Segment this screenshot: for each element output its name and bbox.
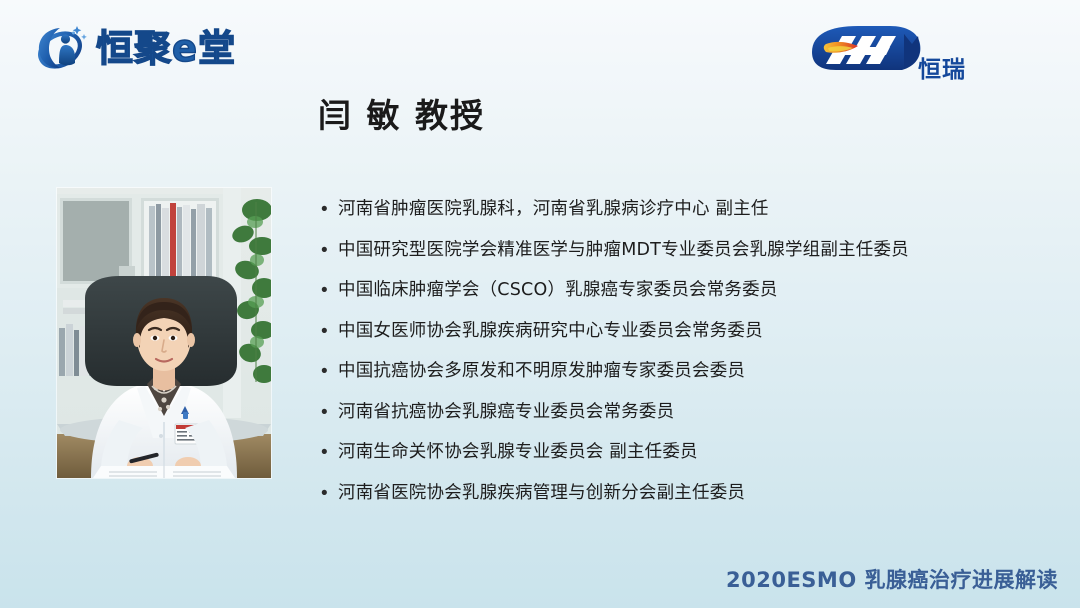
brand-logo-hengju: 恒聚e堂: [30, 14, 236, 82]
list-item: • 中国抗癌协会多原发和不明原发肿瘤专家委员会委员: [316, 358, 1036, 386]
list-item-label: 中国研究型医院学会精准医学与肿瘤MDT专业委员会乳腺学组副主任委员: [338, 237, 909, 264]
list-item: • 河南省医院协会乳腺疾病管理与创新分会副主任委员: [316, 480, 1036, 508]
list-item-label: 河南省抗癌协会乳腺癌专业委员会常务委员: [338, 399, 674, 426]
list-item-label: 中国临床肿瘤学会（CSCO）乳腺癌专家委员会常务委员: [338, 277, 778, 304]
list-item-label: 河南省医院协会乳腺疾病管理与创新分会副主任委员: [338, 480, 745, 507]
list-item: • 河南省抗癌协会乳腺癌专业委员会常务委员: [316, 399, 1036, 427]
bullet-marker-icon: •: [316, 277, 338, 304]
slide-header: 恒聚e堂: [0, 0, 1080, 96]
list-item: • 中国女医师协会乳腺疾病研究中心专业委员会常务委员: [316, 318, 1036, 346]
brand-logo-hengju-label: 恒聚e堂: [96, 30, 236, 67]
bullet-marker-icon: •: [316, 196, 338, 223]
swoosh-person-sparkle-logo-icon: [30, 18, 90, 78]
bullet-marker-icon: •: [316, 318, 338, 345]
list-item: • 河南省肿瘤医院乳腺科，河南省乳腺病诊疗中心 副主任: [316, 196, 1036, 224]
speaker-portrait-photo: [57, 188, 271, 478]
bullet-marker-icon: •: [316, 358, 338, 385]
slide-canvas: 恒聚e堂: [0, 0, 1080, 608]
bullet-marker-icon: •: [316, 399, 338, 426]
list-item: • 河南生命关怀协会乳腺专业委员会 副主任委员: [316, 439, 1036, 467]
slide-footer-title: 2020ESMO 乳腺癌治疗进展解读: [726, 564, 1058, 594]
page-title: 闫 敏 教授: [318, 95, 485, 136]
bullet-marker-icon: •: [316, 439, 338, 466]
bullet-marker-icon: •: [316, 237, 338, 264]
list-item: • 中国研究型医院学会精准医学与肿瘤MDT专业委员会乳腺学组副主任委员: [316, 237, 1036, 265]
brand-logo-hengrui-label: 恒瑞: [918, 59, 966, 82]
list-item: • 中国临床肿瘤学会（CSCO）乳腺癌专家委员会常务委员: [316, 277, 1036, 305]
list-item-label: 中国女医师协会乳腺疾病研究中心专业委员会常务委员: [338, 318, 763, 345]
list-item-label: 中国抗癌协会多原发和不明原发肿瘤专家委员会委员: [338, 358, 745, 385]
bullet-marker-icon: •: [316, 480, 338, 507]
list-item-label: 河南省肿瘤医院乳腺科，河南省乳腺病诊疗中心 副主任: [338, 196, 769, 223]
list-item-label: 河南生命关怀协会乳腺专业委员会 副主任委员: [338, 439, 698, 466]
credentials-list: • 河南省肿瘤医院乳腺科，河南省乳腺病诊疗中心 副主任 • 中国研究型医院学会精…: [316, 196, 1036, 520]
brand-logo-hengrui: 恒瑞: [806, 22, 968, 80]
